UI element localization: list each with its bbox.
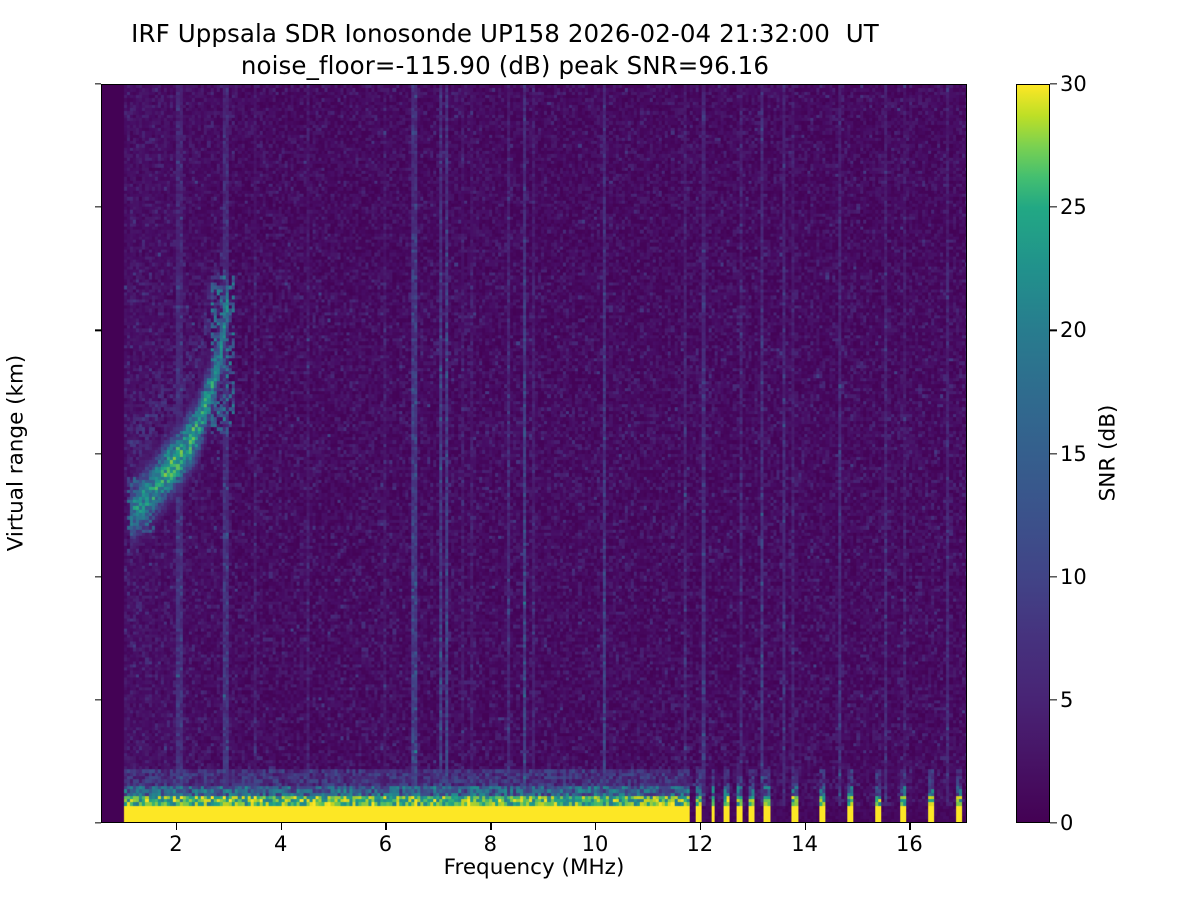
colorbar-tick-label: 20	[1060, 318, 1087, 342]
x-tick-mark	[805, 823, 806, 830]
y-tick-mark	[95, 207, 102, 208]
title-line-2: noise_floor=-115.90 (dB) peak SNR=96.16	[0, 50, 1010, 82]
colorbar-tick-mark	[1050, 576, 1057, 577]
ionogram-plot-area	[101, 84, 967, 823]
y-axis-label: Virtual range (km)	[4, 355, 29, 552]
colorbar-label: SNR (dB)	[1096, 405, 1121, 502]
y-tick-mark	[95, 330, 102, 331]
x-tick-mark	[700, 823, 701, 830]
x-tick-mark	[909, 823, 910, 830]
x-tick-label: 8	[484, 832, 497, 856]
chart-title: IRF Uppsala SDR Ionosonde UP158 2026-02-…	[0, 18, 1010, 83]
x-tick-label: 12	[686, 832, 713, 856]
colorbar-tick-label: 10	[1060, 565, 1087, 589]
x-axis-label: Frequency (MHz)	[444, 855, 625, 880]
colorbar-tick-mark	[1050, 207, 1057, 208]
ionogram-heatmap	[102, 85, 966, 822]
colorbar-tick-label: 30	[1060, 72, 1087, 96]
x-tick-mark	[490, 823, 491, 830]
colorbar-tick-label: 0	[1060, 811, 1073, 835]
colorbar-tick-label: 15	[1060, 442, 1087, 466]
y-tick-mark	[95, 822, 102, 823]
colorbar-tick-label: 25	[1060, 195, 1087, 219]
x-tick-mark	[595, 823, 596, 830]
y-tick-mark	[95, 83, 102, 84]
x-tick-label: 16	[896, 832, 923, 856]
colorbar-tick-mark	[1050, 699, 1057, 700]
x-tick-label: 10	[582, 832, 609, 856]
colorbar-gradient	[1017, 85, 1049, 822]
colorbar	[1016, 84, 1050, 823]
y-tick-mark	[95, 576, 102, 577]
colorbar-tick-label: 5	[1060, 688, 1073, 712]
y-tick-mark	[95, 453, 102, 454]
colorbar-tick-mark	[1050, 822, 1057, 823]
x-tick-label: 4	[274, 832, 287, 856]
colorbar-tick-mark	[1050, 83, 1057, 84]
colorbar-tick-mark	[1050, 453, 1057, 454]
x-tick-mark	[176, 823, 177, 830]
x-tick-label: 6	[379, 832, 392, 856]
x-tick-mark	[281, 823, 282, 830]
x-tick-label: 14	[791, 832, 818, 856]
title-line-1: IRF Uppsala SDR Ionosonde UP158 2026-02-…	[0, 18, 1010, 50]
y-tick-mark	[95, 699, 102, 700]
x-tick-label: 2	[169, 832, 182, 856]
colorbar-tick-mark	[1050, 330, 1057, 331]
x-tick-mark	[385, 823, 386, 830]
